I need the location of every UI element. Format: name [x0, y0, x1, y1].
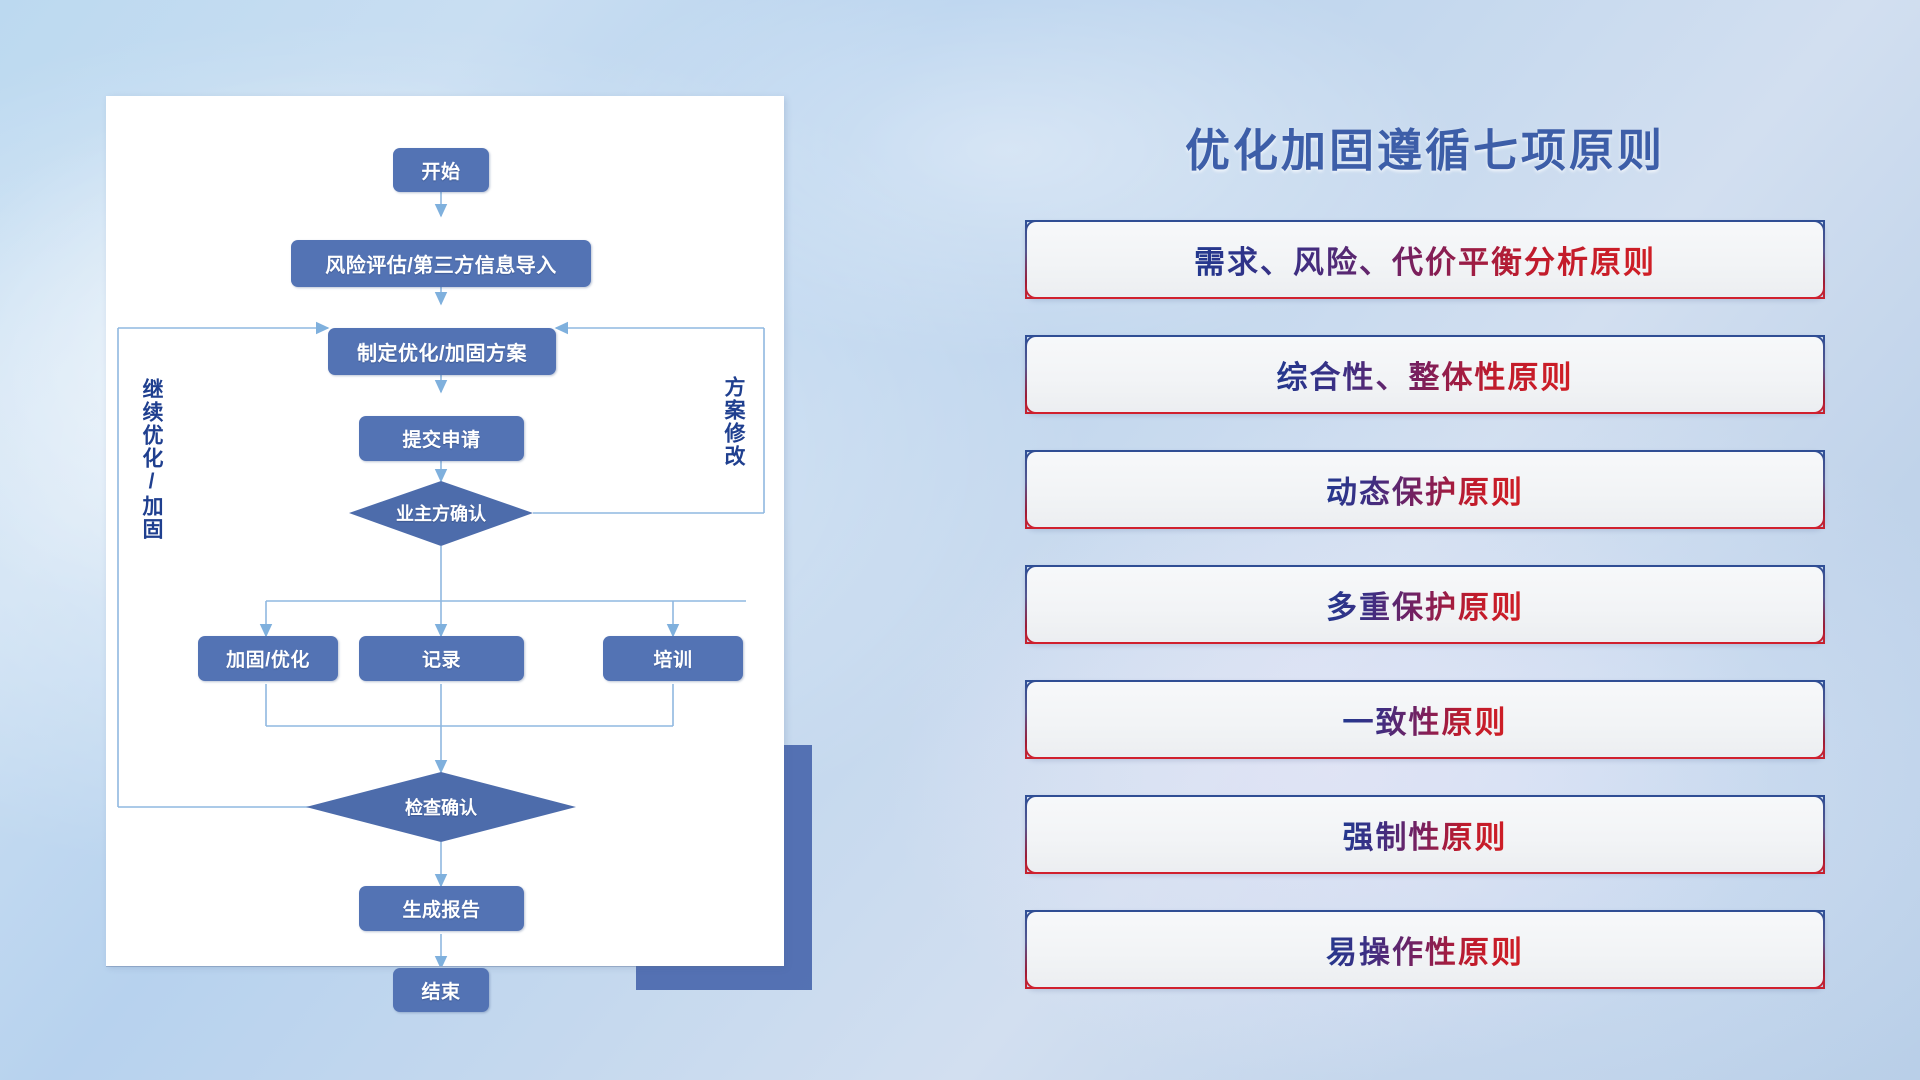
- principle-card[interactable]: 强制性原则: [1025, 795, 1825, 874]
- flow-node-start[interactable]: 开始: [393, 148, 489, 192]
- flow-node-plan[interactable]: 制定优化/加固方案: [328, 328, 556, 375]
- principle-card[interactable]: 综合性、整体性原则: [1025, 335, 1825, 414]
- flow-node-end[interactable]: 结束: [393, 968, 489, 1012]
- edge-label-continue-optimize: 继续优化/加固: [136, 378, 166, 541]
- flow-node-record[interactable]: 记录: [359, 636, 524, 681]
- flow-node-label: 加固/优化: [226, 645, 310, 672]
- flow-node-reinforce-optimize[interactable]: 加固/优化: [198, 636, 338, 681]
- principle-card[interactable]: 易操作性原则: [1025, 910, 1825, 989]
- flow-node-label: 记录: [422, 645, 461, 672]
- principle-card[interactable]: 需求、风险、代价平衡分析原则: [1025, 220, 1825, 299]
- principle-label: 多重保护原则: [1326, 582, 1524, 627]
- decision-node-owner-approval: [349, 481, 533, 546]
- flowchart-card: 开始 风险评估/第三方信息导入 制定优化/加固方案 提交申请 业主方确认 加固/…: [106, 96, 784, 966]
- flow-node-training[interactable]: 培训: [603, 636, 743, 681]
- slide-canvas: 开始 风险评估/第三方信息导入 制定优化/加固方案 提交申请 业主方确认 加固/…: [0, 0, 1920, 1080]
- edge-label-plan-revision: 方案修改: [718, 376, 748, 468]
- principle-label: 一致性原则: [1343, 697, 1508, 742]
- principle-card[interactable]: 多重保护原则: [1025, 565, 1825, 644]
- flow-node-label: 制定优化/加固方案: [357, 337, 527, 366]
- principle-label: 易操作性原则: [1326, 927, 1524, 972]
- flow-node-label: 培训: [653, 645, 692, 672]
- principle-label: 动态保护原则: [1326, 467, 1524, 512]
- flow-node-label: 生成报告: [402, 895, 480, 922]
- flowchart-connectors: [106, 96, 784, 966]
- flow-node-label: 开始: [421, 157, 460, 184]
- flow-node-generate-report[interactable]: 生成报告: [359, 886, 524, 931]
- principle-label: 强制性原则: [1343, 812, 1508, 857]
- flowchart: 开始 风险评估/第三方信息导入 制定优化/加固方案 提交申请 业主方确认 加固/…: [106, 96, 784, 966]
- flow-node-risk-assessment[interactable]: 风险评估/第三方信息导入: [291, 240, 591, 287]
- decision-node-check-confirm: [306, 772, 576, 842]
- flow-node-submit-application[interactable]: 提交申请: [359, 416, 524, 461]
- principle-label: 综合性、整体性原则: [1277, 352, 1574, 397]
- principle-card[interactable]: 一致性原则: [1025, 680, 1825, 759]
- principle-label: 需求、风险、代价平衡分析原则: [1194, 237, 1656, 282]
- principles-list: 需求、风险、代价平衡分析原则 综合性、整体性原则 动态保护原则 多重保护原则 一…: [1025, 220, 1825, 1025]
- flow-node-label: 提交申请: [402, 425, 480, 452]
- flow-node-label: 风险评估/第三方信息导入: [325, 249, 557, 278]
- page-title: 优化加固遵循七项原则: [1020, 114, 1830, 179]
- principles-panel: 优化加固遵循七项原则 需求、风险、代价平衡分析原则 综合性、整体性原则 动态保护…: [1020, 96, 1830, 996]
- principle-card[interactable]: 动态保护原则: [1025, 450, 1825, 529]
- flow-node-label: 结束: [421, 977, 460, 1004]
